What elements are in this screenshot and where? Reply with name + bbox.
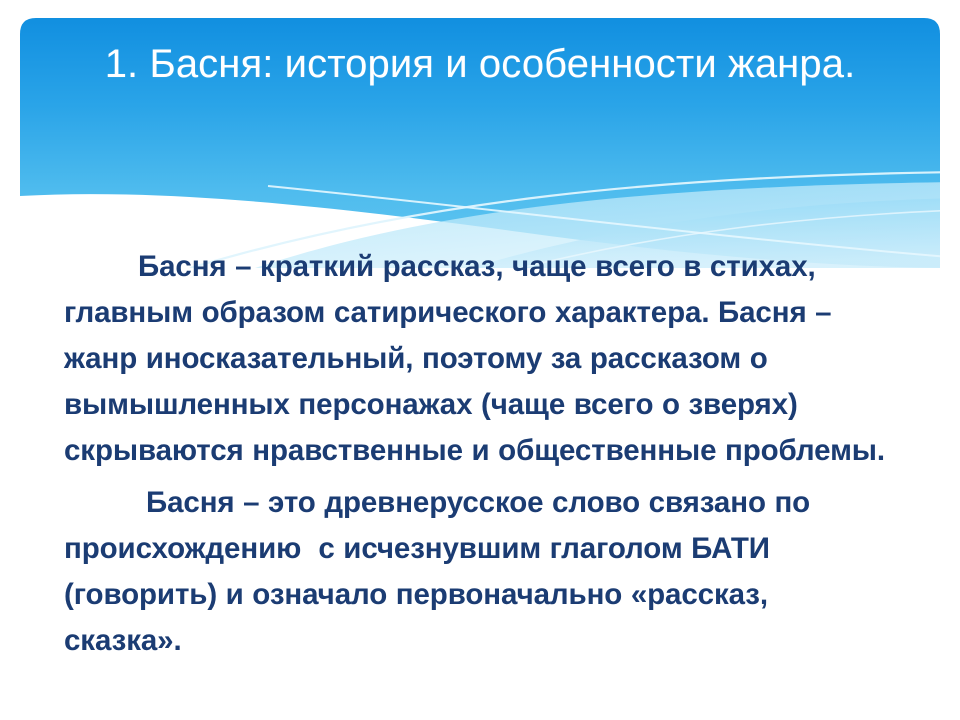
- slide-title: 1. Басня: история и особенности жанра.: [60, 38, 900, 90]
- paragraph-etymology: Басня – это древнерусское слово связано …: [64, 480, 892, 664]
- body-content: Басня – краткий рассказ, чаще всего в ст…: [64, 244, 892, 664]
- slide: 1. Басня: история и особенности жанра. Б…: [0, 0, 960, 720]
- paragraph-definition: Басня – краткий рассказ, чаще всего в ст…: [64, 244, 892, 474]
- slide-title-text: 1. Басня: история и особенности жанра.: [60, 38, 900, 90]
